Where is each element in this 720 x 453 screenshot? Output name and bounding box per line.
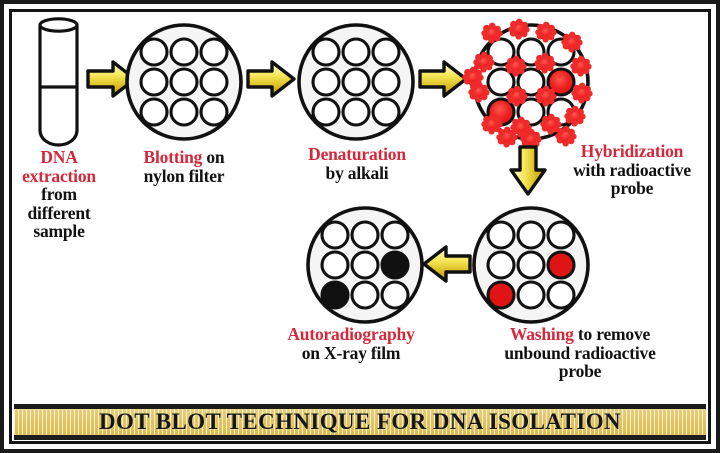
banner-title-text: DOT BLOT TECHNIQUE FOR DNA ISOLATION <box>99 409 621 435</box>
figure-root: DNA extraction from different sample Blo… <box>0 0 720 453</box>
label-autoradiography: Autoradiography on X-ray film <box>247 325 455 362</box>
label-washing: Washing to remove unbound radioactive pr… <box>448 325 712 381</box>
label-blotting: Blotting on nylon filter <box>116 148 252 185</box>
label-hybridization-line2: with radioactive <box>573 160 691 180</box>
label-dna-extraction-line3: from <box>41 184 77 204</box>
label-denaturation-line2: by alkali <box>326 163 389 183</box>
label-autoradiography-highlight: Autoradiography <box>287 324 414 344</box>
label-dna-extraction: DNA extraction from different sample <box>6 148 112 241</box>
label-dna-extraction-line1: DNA <box>40 147 77 167</box>
label-hybridization-highlight: Hybridization <box>581 141 683 161</box>
arrow-hybridization-to-washing <box>511 147 545 194</box>
arrow-blotting-to-denaturation <box>248 62 294 96</box>
step-autoradiography-filter <box>308 208 422 322</box>
step-denaturation-filter <box>299 25 413 139</box>
signal-spot-autoradiography-2 <box>322 282 348 308</box>
bound-well-washing-1 <box>548 252 574 278</box>
label-blotting-line2: nylon filter <box>144 166 225 186</box>
label-washing-line3: probe <box>559 361 601 381</box>
label-blotting-highlight: Blotting <box>144 147 203 167</box>
label-denaturation: Denaturation by alkali <box>272 145 442 182</box>
label-dna-extraction-line2: extraction <box>22 166 96 186</box>
label-hybridization: Hybridization with radioactive probe <box>548 142 716 198</box>
step-blotting-filter <box>127 25 241 139</box>
label-hybridization-line3: probe <box>611 178 653 198</box>
arrow-denaturation-to-hybridization <box>420 62 466 96</box>
step-dna-extraction-tube <box>40 19 77 145</box>
label-washing-rest: to remove <box>574 324 650 344</box>
label-washing-highlight: Washing <box>510 324 574 344</box>
label-dna-extraction-line5: sample <box>33 221 84 241</box>
bound-well-washing-2 <box>488 282 514 308</box>
label-dna-extraction-line4: different <box>28 203 91 223</box>
signal-spot-autoradiography-1 <box>382 252 408 278</box>
label-denaturation-highlight: Denaturation <box>308 144 406 164</box>
label-autoradiography-line2: on X-ray film <box>302 343 401 363</box>
label-blotting-rest: on <box>202 147 224 167</box>
title-banner: DOT BLOT TECHNIQUE FOR DNA ISOLATION <box>14 404 706 440</box>
step-hybridization-filter <box>462 19 592 150</box>
arrow-washing-to-autoradiography <box>424 247 470 281</box>
step-washing-filter <box>474 208 588 322</box>
label-washing-line2: unbound radioactive <box>504 343 655 363</box>
